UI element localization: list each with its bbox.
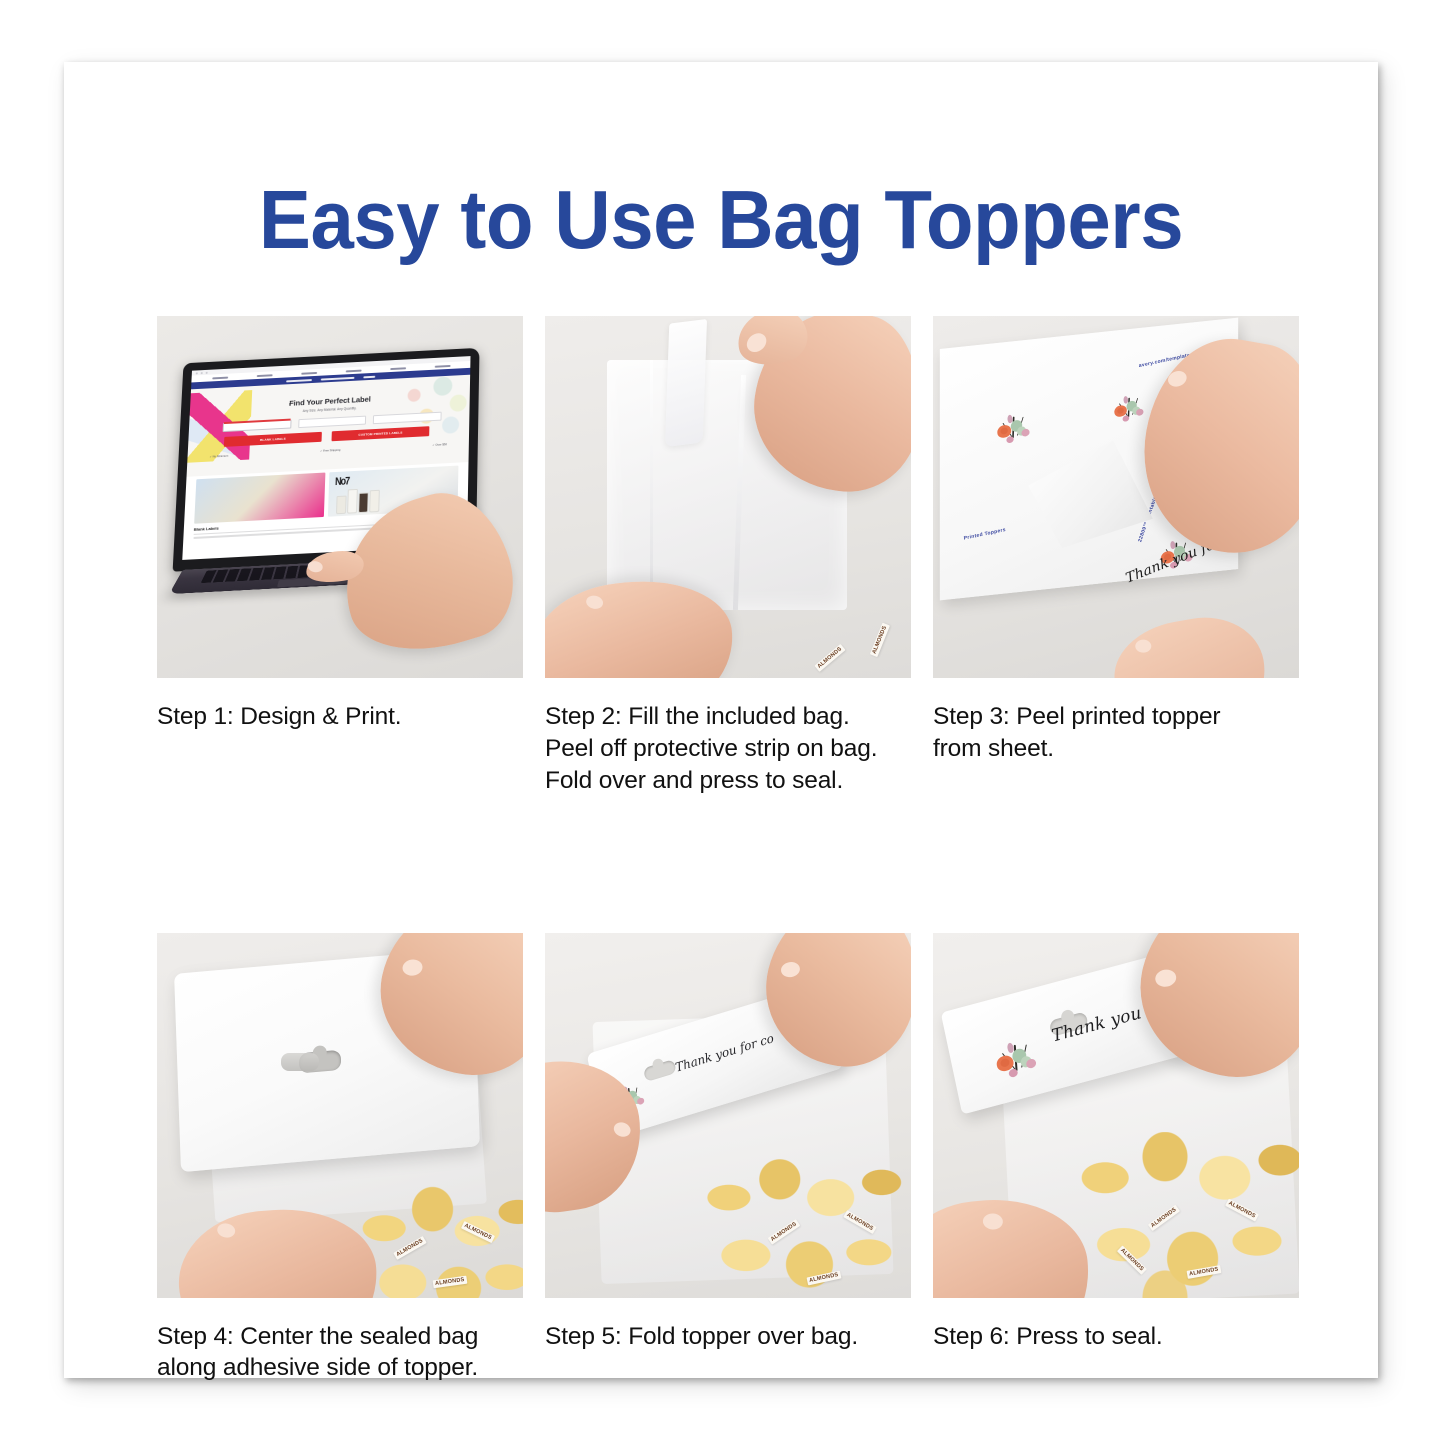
browser-dot-icon <box>196 372 198 374</box>
infographic-card: Easy to Use Bag Toppers <box>64 62 1378 1378</box>
step-cell-1: Find Your Perfect Label Any Size. Any Ma… <box>157 316 523 797</box>
fingernail <box>585 594 604 610</box>
floral-design-icon <box>994 409 1035 449</box>
step-cell-2: ALMONDS ALMONDS Step 2: Fill the include… <box>545 316 911 797</box>
step-caption-6: Step 6: Press to seal. <box>933 1321 1299 1353</box>
fingernail <box>780 960 801 978</box>
product-bottle <box>369 490 380 513</box>
candy-pile <box>787 560 911 678</box>
step-cell-4: ALMONDS ALMONDS ALMONDS Step 4: Center t… <box>157 933 523 1385</box>
hero-section: Find Your Perfect Label Any Size. Any Ma… <box>187 375 471 477</box>
tab-material[interactable] <box>298 416 367 429</box>
steps-row-1: Find Your Perfect Label Any Size. Any Ma… <box>157 316 1301 797</box>
step-caption-4: Step 4: Center the sealed bag along adhe… <box>157 1321 523 1385</box>
promo-text <box>363 375 375 378</box>
nav-item <box>301 371 317 374</box>
cart-icon <box>434 364 450 367</box>
search-icon <box>390 367 406 370</box>
step-cell-6: ALMONDS ALMONDS ALMONDS ALMONDS Thank yo… <box>933 933 1299 1385</box>
sheet-brand-mark: Printed Toppers <box>963 527 1006 542</box>
step-cell-3: avery.com/templates Printed Toppers 2280… <box>933 316 1299 797</box>
steps-row-2: ALMONDS ALMONDS ALMONDS Step 4: Center t… <box>157 933 1301 1385</box>
card-headline: No7 <box>335 474 349 487</box>
fingernail <box>307 560 324 573</box>
fingernail <box>401 958 423 977</box>
step-image-2: ALMONDS ALMONDS <box>545 316 911 678</box>
promo-text <box>321 376 355 380</box>
product-bottle <box>336 496 347 515</box>
promo-text <box>286 379 312 382</box>
link-free-over-50[interactable]: ✓ Over $50 <box>432 442 447 447</box>
steps-grid: Find Your Perfect Label Any Size. Any Ma… <box>157 316 1301 1384</box>
fingernail <box>1135 640 1151 653</box>
product-bottle <box>347 489 358 514</box>
topper-script-text: Thank you for co <box>674 1031 775 1075</box>
step-cell-5: ALMONDS ALMONDS ALMONDS Thank you for co <box>545 933 911 1385</box>
link-free-shipping[interactable]: ✓ Free Shipping <box>320 448 341 453</box>
tab-labels[interactable] <box>223 420 292 433</box>
feature-card-blank-labels[interactable] <box>194 473 325 524</box>
page-title: Easy to Use Bag Toppers <box>103 178 1338 261</box>
step-caption-1: Step 1: Design & Print. <box>157 701 523 733</box>
floral-design-icon <box>991 1035 1044 1086</box>
step-image-5: ALMONDS ALMONDS ALMONDS Thank you for co <box>545 933 911 1298</box>
step-caption-5: Step 5: Fold topper over bag. <box>545 1321 911 1353</box>
step-image-6: ALMONDS ALMONDS ALMONDS ALMONDS Thank yo… <box>933 933 1299 1298</box>
step-image-3: avery.com/templates Printed Toppers 2280… <box>933 316 1299 678</box>
nav-item <box>345 369 361 372</box>
step-image-1: Find Your Perfect Label Any Size. Any Ma… <box>157 316 523 678</box>
fingernail <box>612 1120 633 1139</box>
browser-dot-icon <box>201 372 203 374</box>
product-bottle <box>358 492 369 513</box>
candy-pile <box>695 1152 907 1298</box>
laptop: Find Your Perfect Label Any Size. Any Ma… <box>165 346 508 613</box>
fingernail <box>216 1222 236 1239</box>
browser-dot-icon <box>206 371 208 373</box>
step-image-4: ALMONDS ALMONDS ALMONDS <box>157 933 523 1298</box>
fingernail <box>743 329 770 356</box>
nav-item <box>212 376 228 379</box>
fingernail <box>982 1212 1003 1229</box>
floral-design-icon <box>1111 391 1148 427</box>
hang-hole-punch <box>281 1053 319 1071</box>
step-caption-2: Step 2: Fill the included bag. Peel off … <box>545 701 911 797</box>
step-caption-3: Step 3: Peel printed topper from sheet. <box>933 701 1299 765</box>
hang-hole-icon <box>643 1059 677 1082</box>
fingernail <box>1154 968 1178 988</box>
nav-item <box>256 374 272 377</box>
protective-strip <box>665 319 707 447</box>
